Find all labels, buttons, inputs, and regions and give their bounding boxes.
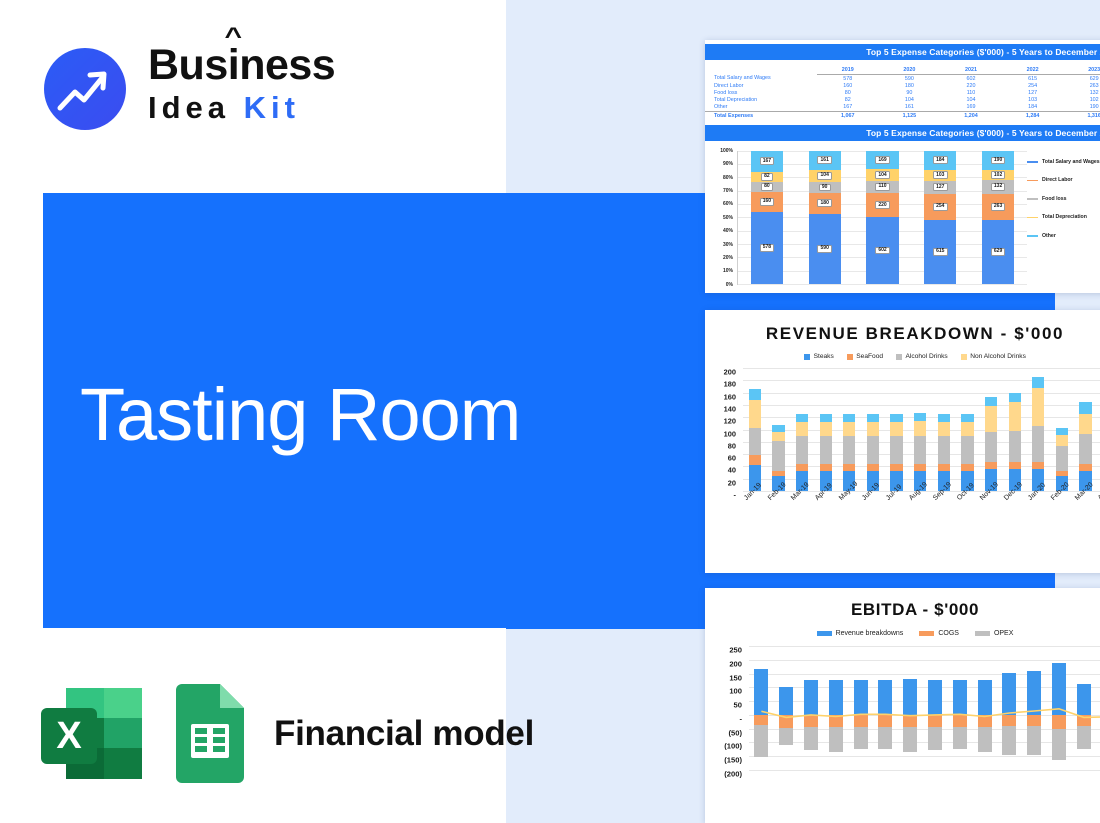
axis-tick: - [739,714,742,723]
data-label: 590 [817,245,832,253]
bar-segment [820,464,832,471]
stacked-bar: 169104110220602 [866,151,898,284]
axis-tick: 0% [726,282,733,288]
revenue-breakdown-card[interactable]: REVENUE BREAKDOWN - $'000 SteaksSeaFoodA… [705,310,1100,573]
cell-value: 110 [940,89,1002,96]
data-label: 263 [991,203,1006,211]
data-label: 184 [933,156,948,164]
bar-segment [985,406,997,432]
bar-group [908,368,932,491]
bar-segment [985,432,997,462]
bar-group [932,368,956,491]
legend-item[interactable]: Food loss [1027,196,1100,202]
cell-value: 263 [1063,82,1100,89]
axis-tick: 50 [734,701,742,710]
column-header: 2019 [817,66,879,75]
cell-value: 167 [817,104,879,112]
plot-area [743,368,1100,491]
bar-segment [961,436,973,464]
bar-segment [961,422,973,436]
axis-tick: 100 [729,687,742,696]
row-label: Direct Labor [705,82,817,89]
bar-segment [749,389,761,400]
cell-value: 169 [940,104,1002,112]
bar-segment: 169 [866,151,898,170]
data-label: 82 [761,173,773,181]
data-label: 132 [991,183,1006,191]
legend-label: Other [1042,233,1056,239]
expense-stacked-percent-chart: 0%10%20%30%40%50%60%70%80%90%100% 167828… [707,145,1100,293]
chart-legend: SteaksSeaFoodAlcohol DrinksNon Alcohol D… [705,353,1100,360]
revenue-chart: -20406080100120140160180200 Jan-19Feb-19… [705,364,1100,539]
bar-segment [1079,434,1091,464]
growth-arrow-chart-icon [44,48,126,130]
legend-item[interactable]: Steaks [804,353,834,360]
legend-label: Revenue breakdowns [836,630,904,637]
bar-group [861,368,885,491]
cell-value: 90 [879,89,941,96]
bar-segment [749,455,761,465]
brand-kit-text: Kit [244,90,300,125]
bar-group: 16110490180590 [796,151,854,284]
bar-segment [938,464,950,471]
bar-segment [772,425,784,432]
bar-segment [796,436,808,464]
revenue-chart-title: REVENUE BREAKDOWN - $'000 [705,324,1100,344]
bar-segment: 629 [982,220,1014,284]
data-label: 190 [991,157,1006,165]
bar-segment [796,414,808,422]
cell-value: 590 [879,75,941,83]
bar-segment [867,436,879,464]
legend-item[interactable]: Non Alcohol Drinks [961,353,1026,360]
microsoft-excel-icon: X [35,682,148,785]
table-total-row: Total Expenses1,0671,1251,2041,2841,316 [705,112,1100,120]
axis-tick: 150 [729,673,742,682]
axis-tick: 200 [724,368,736,377]
axis-tick: 160 [724,392,736,401]
legend-swatch [804,354,810,360]
cell-value: 190 [1063,104,1100,112]
bar-group [1050,368,1074,491]
bar-segment [914,464,926,471]
row-label: Other [705,104,817,112]
plot-area: 1678280160578161104901805901691041102206… [737,151,1027,285]
bar-segment [1079,464,1091,471]
legend-item[interactable]: Direct Labor [1027,177,1100,183]
legend-swatch [1027,217,1038,219]
cell-value: 578 [817,75,879,83]
row-label: Total Salary and Wages [705,75,817,83]
table-row: Direct Labor160180220254263 [705,82,1100,89]
bar-segment [914,436,926,464]
x-axis-labels [749,770,1100,802]
stacked-bar: 184103127254615 [924,151,956,284]
legend-swatch [817,631,832,636]
cell-value: 1,067 [817,112,879,120]
cell-value: 80 [817,89,879,96]
bar-segment [1032,377,1044,388]
legend-item[interactable]: COGS [919,630,959,637]
data-label: 80 [761,183,773,191]
legend-label: Non Alcohol Drinks [970,353,1026,360]
bar-group [814,368,838,491]
legend-label: Total Depreciation [1042,214,1087,220]
bar-segment [961,464,973,471]
column-header: 2020 [879,66,941,75]
stacked-bar: 190102132263629 [982,151,1014,284]
axis-tick: (200) [724,770,742,779]
bar-segment: 615 [924,220,956,284]
bar-segment: 578 [751,212,783,284]
bar-segment: 190 [982,151,1014,170]
axis-tick: 100 [724,429,736,438]
expense-chart-title: Top 5 Expense Categories ($'000) - 5 Yea… [705,125,1100,141]
cell-value: 104 [940,97,1002,104]
x-axis-labels: Jan-19Feb-19Mar-19Apr-19May-19Jun-19Jul-… [743,491,1100,539]
axis-tick: (100) [724,742,742,751]
bar-segment [772,441,784,471]
stacked-bar [1009,393,1021,491]
data-label: 169 [875,156,890,164]
bar-segment: 180 [809,193,841,214]
data-label: 578 [760,244,775,252]
cell-value: 629 [1063,75,1100,83]
bar-segment: 590 [809,214,841,284]
bar-segment [1032,462,1044,469]
bar-group: 1678280160578 [738,151,796,284]
bar-segment: 104 [866,169,898,180]
slide-canvas: Business Idea Kit Tasting Room X [0,0,1100,823]
bar-segment [890,436,902,464]
bar-segment [749,400,761,428]
table-row: Total Depreciation82104104103102 [705,97,1100,104]
bar-segment [890,464,902,471]
legend-swatch [975,631,990,636]
svg-text:X: X [56,715,82,757]
cell-value: 180 [879,82,941,89]
legend-label: Food loss [1042,196,1067,202]
axis-tick: 120 [724,417,736,426]
axis-tick: (150) [724,756,742,765]
bar-segment [985,397,997,406]
row-label: Total Expenses [705,112,817,120]
legend-label: Steaks [814,353,834,360]
financial-model-label: Financial model [274,714,534,754]
legend-label: COGS [938,630,959,637]
bar-group [885,368,909,491]
axis-tick: 90% [723,161,733,167]
bar-segment [867,414,879,422]
data-label: 110 [875,183,889,191]
chart-legend: Revenue breakdownsCOGSOPEX [705,630,1100,637]
bar-segment [796,464,808,471]
chart-legend: Total Salary and WagesDirect LaborFood l… [1027,159,1100,252]
bar-segment: 184 [924,151,956,170]
bar-segment [843,436,855,464]
bar-segment [938,422,950,436]
cell-value: 102 [1063,97,1100,104]
data-label: 220 [875,201,890,209]
cell-value: 254 [1002,82,1064,89]
data-label: 254 [933,203,948,211]
axis-tick: (50) [728,728,742,737]
cell-value: 220 [940,82,1002,89]
axis-tick: - [734,491,736,500]
data-label: 127 [933,183,948,191]
bar-segment [867,422,879,436]
legend-label: SeaFood [856,353,883,360]
gridline [738,284,1027,285]
brand-idea-text: Idea [148,90,230,125]
bar-group [790,368,814,491]
legend-swatch [961,354,967,360]
stacked-bar [1079,402,1091,491]
data-label: 629 [991,248,1006,256]
stacked-bar [843,414,855,491]
stacked-bar: 16110490180590 [809,151,841,284]
bar-segment: 104 [809,170,841,182]
bar-segment: 82 [751,172,783,182]
data-label: 161 [817,156,832,164]
bar-segment [843,422,855,436]
stacked-bar [985,397,997,491]
bar-segment [1009,402,1021,430]
cell-value: 1,204 [940,112,1002,120]
legend-item[interactable]: Revenue breakdowns [817,630,904,637]
bar-series [743,368,1100,491]
bar-segment [749,428,761,455]
legend-item[interactable]: SeaFood [847,353,883,360]
y-axis-labels: 25020015010050-(50)(100)(150)(200) [705,646,745,770]
cell-value: 104 [879,97,941,104]
y-axis-labels: -20406080100120140160180200 [705,368,739,491]
cell-value: 602 [940,75,1002,83]
data-label: 160 [760,198,775,206]
bar-segment [772,432,784,441]
bar-group [1074,368,1098,491]
axis-tick: 20% [723,255,733,261]
expense-table-title: Top 5 Expense Categories ($'000) - 5 Yea… [705,44,1100,60]
bar-segment [1079,414,1091,435]
column-header: 2022 [1002,66,1064,75]
y-axis-labels: 0%10%20%30%40%50%60%70%80%90%100% [707,145,735,285]
ebitda-chart-title: EBITDA - $'000 [705,600,1100,620]
bar-segment [961,414,973,422]
bar-segment [1056,428,1068,435]
ebitda-line-series [749,646,1100,770]
bar-series: 1678280160578161104901805901691041102206… [738,151,1027,284]
row-label: Food loss [705,89,817,96]
legend-item[interactable]: Total Salary and Wages [1027,159,1100,165]
axis-tick: 60 [728,454,736,463]
axis-tick: 80 [728,441,736,450]
bar-segment: 602 [866,217,898,283]
format-badges-row: X Financial model [35,682,534,785]
legend-item[interactable]: Other [1027,233,1100,239]
bar-group [743,368,767,491]
bar-segment [820,414,832,422]
column-header [705,66,817,75]
bar-segment: 103 [924,170,956,181]
brand-name-secondary: Idea Kit [148,90,335,126]
cell-value: 160 [817,82,879,89]
ebitda-card[interactable]: EBITDA - $'000 Revenue breakdownsCOGSOPE… [705,588,1100,823]
axis-tick: 250 [729,646,742,655]
data-label: 602 [875,247,890,255]
bar-segment: 102 [982,170,1014,180]
bar-group: 169104110220602 [854,151,912,284]
bar-segment [820,436,832,464]
data-label: 102 [991,171,1006,179]
bar-segment: 132 [982,180,1014,193]
bar-group [956,368,980,491]
row-label: Total Depreciation [705,97,817,104]
cell-value: 615 [1002,75,1064,83]
bar-segment [890,414,902,422]
bar-group [1003,368,1027,491]
bar-segment [867,464,879,471]
bar-segment [914,421,926,436]
bar-group [979,368,1003,491]
expense-table: 20192020202120222023 Total Salary and Wa… [705,66,1100,120]
bar-segment [1032,388,1044,426]
bar-segment: 80 [751,182,783,192]
axis-tick: 180 [724,380,736,389]
bar-segment [1009,393,1021,402]
data-label: 90 [819,184,831,192]
expense-categories-card[interactable]: Top 5 Expense Categories ($'000) - 5 Yea… [705,40,1100,293]
legend-swatch [1027,198,1038,200]
bar-segment [1056,435,1068,446]
bar-segment [843,414,855,422]
bar-group: 190102132263629 [969,151,1027,284]
bar-segment [1009,431,1021,462]
cell-value: 103 [1002,97,1064,104]
legend-label: Alcohol Drinks [906,353,948,360]
axis-tick: 100% [720,148,733,154]
legend-item[interactable]: OPEX [975,630,1013,637]
data-label: 104 [817,172,832,180]
cell-value: 184 [1002,104,1064,112]
stacked-bar [1032,377,1044,491]
table-row: Total Salary and Wages578590602615629 [705,75,1100,83]
bar-group [838,368,862,491]
axis-tick: 50% [723,215,733,221]
legend-swatch [1027,180,1038,182]
column-header: 2021 [940,66,1002,75]
bar-segment: 220 [866,193,898,217]
bar-segment [938,414,950,422]
axis-tick: 40% [723,228,733,234]
data-label: 104 [875,171,890,179]
bar-segment: 110 [866,181,898,193]
legend-swatch [847,354,853,360]
cell-value: 161 [879,104,941,112]
bar-segment: 90 [809,182,841,193]
brand-logo: Business Idea Kit [44,42,364,137]
cell-value: 82 [817,97,879,104]
legend-label: Total Salary and Wages [1042,159,1100,165]
cell-value: 1,316 [1063,112,1100,120]
table-row: Food loss8090110127132 [705,89,1100,96]
axis-tick: 10% [723,268,733,274]
bar-segment [1009,462,1021,469]
bar-segment [1079,402,1091,413]
axis-tick: 60% [723,201,733,207]
bar-group [1027,368,1051,491]
legend-swatch [896,354,902,360]
legend-label: Direct Labor [1042,177,1073,183]
bar-segment: 254 [924,194,956,220]
bar-segment [796,422,808,436]
data-label: 103 [933,171,948,179]
page-title: Tasting Room [80,372,520,458]
column-header: 2023 [1063,66,1100,75]
bar-segment: 161 [809,151,841,170]
bar-segment: 167 [751,151,783,172]
axis-tick: 40 [728,466,736,475]
table-row: Other167161169184190 [705,104,1100,112]
plot-area [749,646,1100,770]
bar-segment [985,462,997,469]
ebitda-chart: 25020015010050-(50)(100)(150)(200) [705,642,1100,802]
google-sheets-icon [170,682,250,785]
bar-segment [820,422,832,436]
stacked-bar: 1678280160578 [751,151,783,284]
bar-segment [1056,446,1068,471]
axis-tick: 70% [723,188,733,194]
legend-swatch [919,631,934,636]
bar-segment [843,464,855,471]
bar-segment: 127 [924,181,956,194]
axis-tick: 80% [723,175,733,181]
brand-name-primary: Business [148,42,335,88]
data-label: 167 [760,157,775,165]
legend-item[interactable]: Total Depreciation [1027,214,1100,220]
bar-segment: 263 [982,194,1014,221]
bar-group: 184103127254615 [911,151,969,284]
table-header-row: 20192020202120222023 [705,66,1100,75]
axis-tick: 20 [728,478,736,487]
bar-segment [914,413,926,421]
cell-value: 1,125 [879,112,941,120]
data-label: 615 [933,248,948,256]
legend-label: OPEX [994,630,1013,637]
axis-tick: 30% [723,242,733,248]
bar-group [767,368,791,491]
bar-segment [1032,426,1044,462]
legend-item[interactable]: Alcohol Drinks [896,353,948,360]
cell-value: 132 [1063,89,1100,96]
bar-segment: 160 [751,192,783,212]
axis-tick: 200 [729,659,742,668]
legend-swatch [1027,161,1038,163]
legend-swatch [1027,235,1038,237]
cell-value: 1,284 [1002,112,1064,120]
bar-segment [890,422,902,436]
data-label: 180 [817,199,832,207]
cell-value: 127 [1002,89,1064,96]
bar-segment [938,436,950,464]
stacked-bar [749,389,761,491]
axis-tick: 140 [724,404,736,413]
